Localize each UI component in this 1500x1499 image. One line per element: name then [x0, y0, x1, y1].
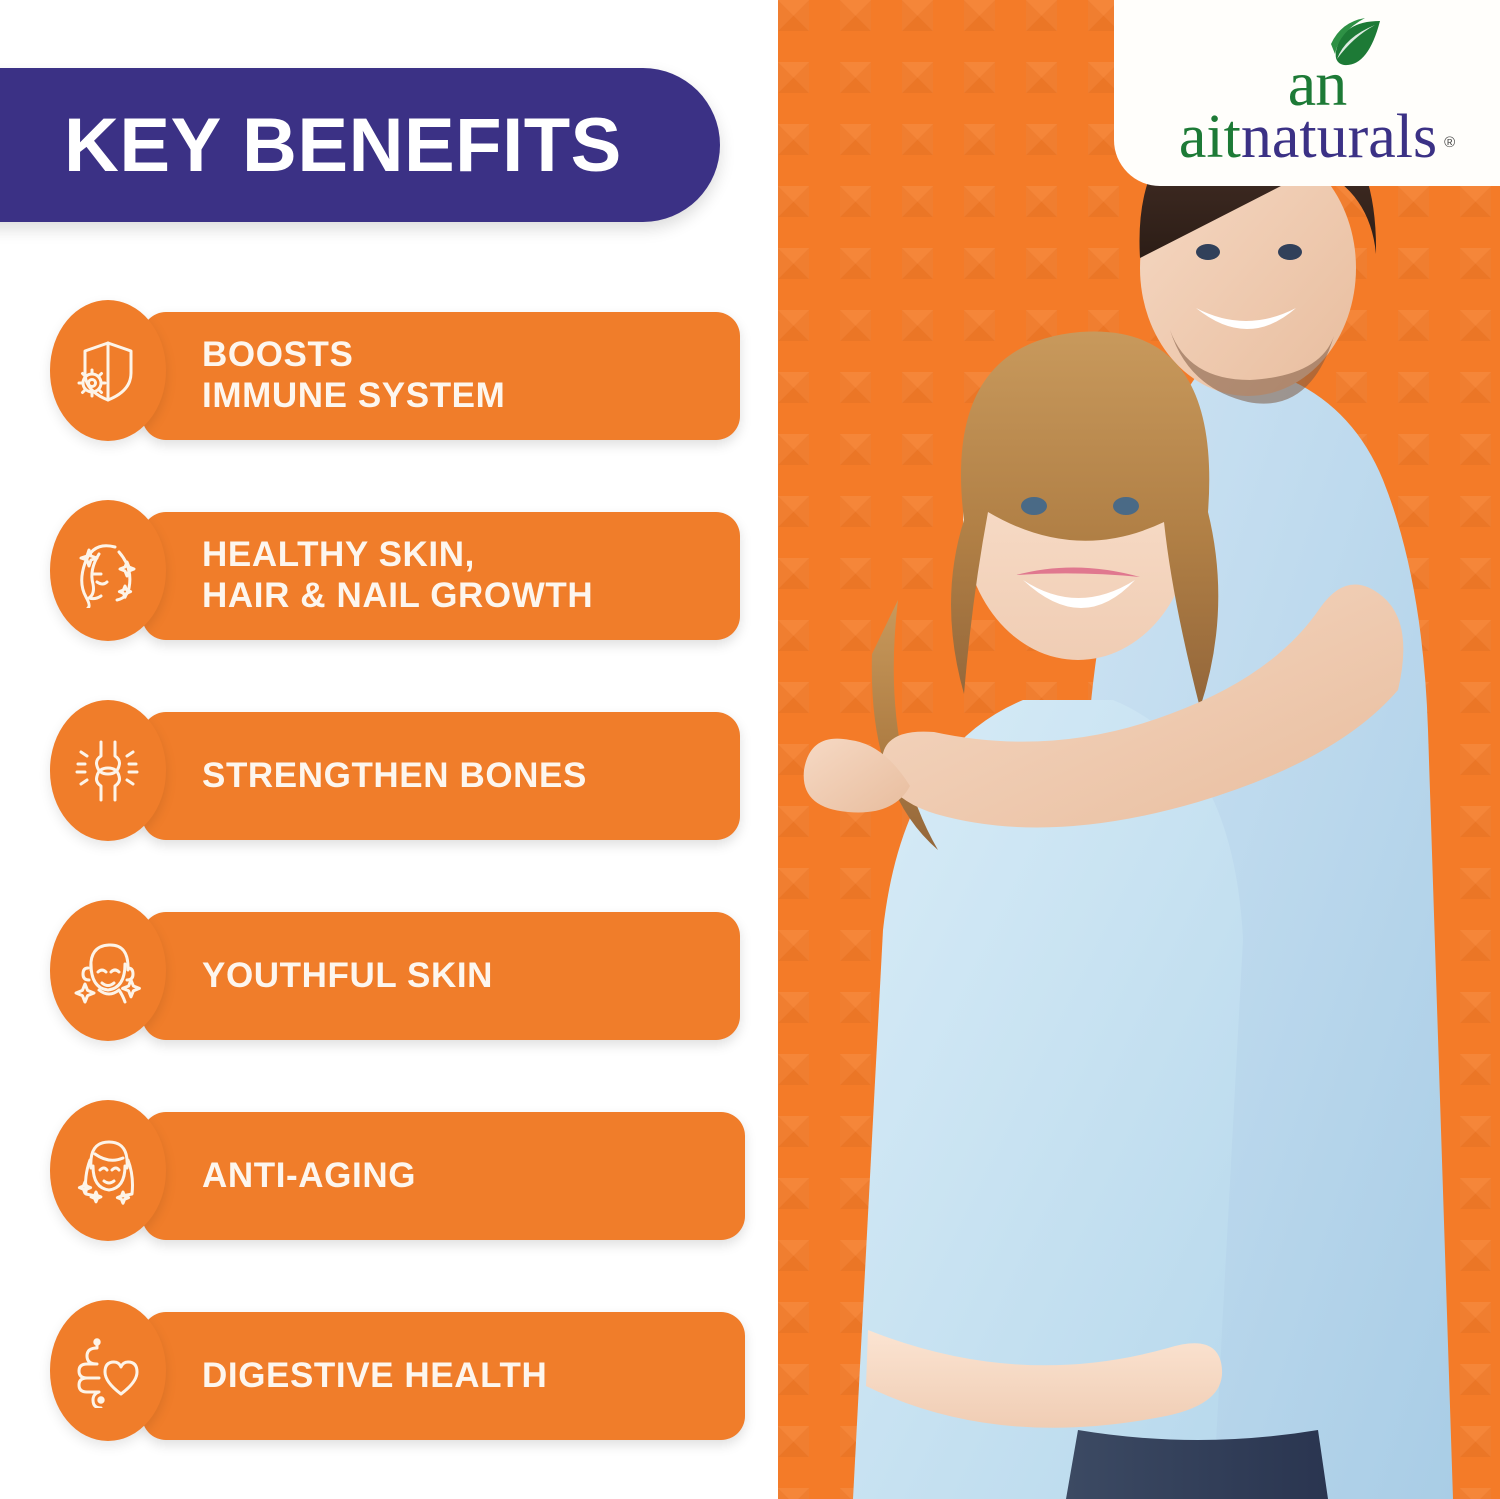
face-profile-sparkle-icon [50, 500, 166, 641]
benefit-label: YOUTHFUL SKIN [202, 956, 493, 997]
list-item: STRENGTHEN BONES [0, 700, 778, 841]
benefit-pill[interactable]: ANTI-AGING [142, 1112, 745, 1240]
benefit-label: ANTI-AGING [202, 1156, 416, 1197]
shield-virus-icon [50, 300, 166, 441]
list-item: DIGESTIVE HEALTH [0, 1300, 778, 1441]
list-item: ANTI-AGING [0, 1100, 778, 1241]
intestine-heart-icon [50, 1300, 166, 1441]
benefits-list: BOOSTS IMMUNE SYSTEM HEALTHY SKIN, HAIR … [0, 300, 778, 1499]
benefit-pill[interactable]: YOUTHFUL SKIN [142, 912, 740, 1040]
benefit-label: BOOSTS IMMUNE SYSTEM [202, 335, 505, 416]
logo-ait-text: ait [1179, 106, 1241, 168]
smiling-face-sparkle-icon [50, 900, 166, 1041]
key-benefits-banner: KEY BENEFITS [0, 68, 720, 222]
infographic-canvas: an ait naturals ® KEY BENEFITS BOOSTS IM… [0, 0, 1500, 1499]
benefit-pill[interactable]: STRENGTHEN BONES [142, 712, 740, 840]
woman-face-sparkle-icon [50, 1100, 166, 1241]
benefit-pill[interactable]: BOOSTS IMMUNE SYSTEM [142, 312, 740, 440]
logo-mark-row: an [1288, 36, 1346, 110]
benefit-label: STRENGTHEN BONES [202, 756, 587, 797]
benefit-pill[interactable]: HEALTHY SKIN, HAIR & NAIL GROWTH [142, 512, 740, 640]
benefit-label: HEALTHY SKIN, HAIR & NAIL GROWTH [202, 535, 593, 616]
leaf-icon [1325, 18, 1385, 66]
page-title: KEY BENEFITS [64, 102, 622, 189]
benefit-label: DIGESTIVE HEALTH [202, 1356, 547, 1397]
brand-logo: an ait naturals ® [1114, 0, 1500, 186]
list-item: BOOSTS IMMUNE SYSTEM [0, 300, 778, 441]
bone-joint-icon [50, 700, 166, 841]
list-item: YOUTHFUL SKIN [0, 900, 778, 1041]
photo-panel [778, 0, 1500, 1499]
registered-trademark-icon: ® [1444, 134, 1455, 151]
couple-embracing-photo [778, 0, 1500, 1499]
list-item: HEALTHY SKIN, HAIR & NAIL GROWTH [0, 500, 778, 641]
benefit-pill[interactable]: DIGESTIVE HEALTH [142, 1312, 745, 1440]
